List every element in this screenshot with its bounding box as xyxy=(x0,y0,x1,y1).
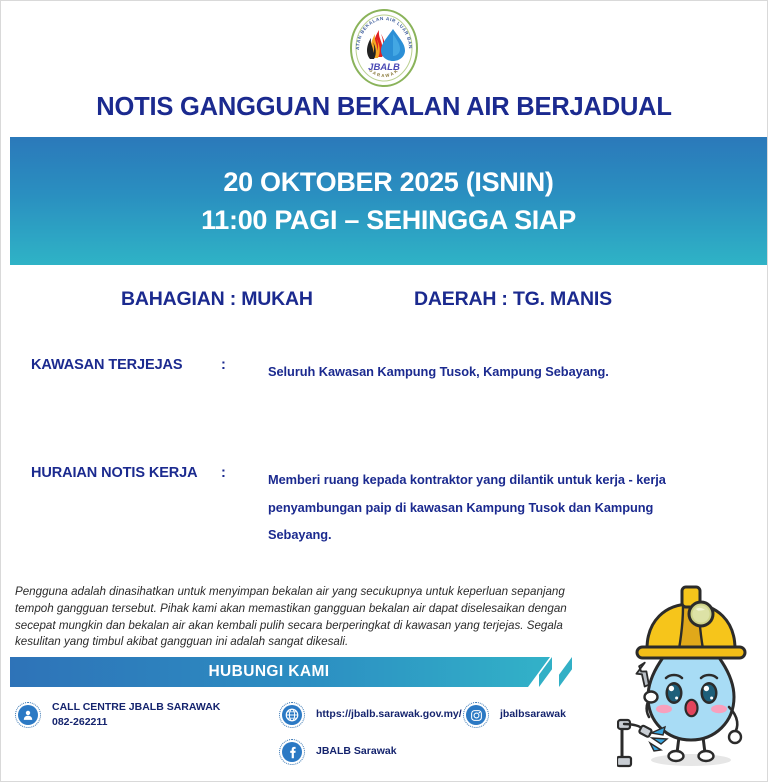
water-droplet-mascot-icon xyxy=(617,577,763,777)
svg-text:JBALB: JBALB xyxy=(368,62,400,73)
call-centre-phone: 082-262211 xyxy=(52,715,220,730)
facebook-icon xyxy=(279,739,305,765)
division-row: BAHAGIAN : MUKAH DAERAH : TG. MANIS xyxy=(1,288,767,318)
jbalb-logo-icon: JABATAN BEKALAN AIR LUAR BANDAR SARAWAK … xyxy=(348,8,420,88)
contact-call-centre[interactable]: CALL CENTRE JBALB SARAWAK 082-262211 xyxy=(15,700,220,730)
page-header: JABATAN BEKALAN AIR LUAR BANDAR SARAWAK … xyxy=(1,1,767,134)
decorative-stripe-2 xyxy=(559,657,572,687)
bahagian-label: BAHAGIAN : MUKAH xyxy=(121,288,313,311)
call-centre-text: CALL CENTRE JBALB SARAWAK 082-262211 xyxy=(52,700,220,730)
info-value: Seluruh Kawasan Kampung Tusok, Kampung S… xyxy=(268,358,718,386)
website-url[interactable]: https://jbalb.sarawak.gov.my/ xyxy=(316,707,462,722)
page-title: NOTIS GANGGUAN BEKALAN AIR BERJADUAL xyxy=(1,93,767,122)
contact-website[interactable]: https://jbalb.sarawak.gov.my/ xyxy=(279,702,462,728)
contact-facebook[interactable]: JBALB Sarawak xyxy=(279,739,397,765)
contact-instagram[interactable]: jbalbsarawak xyxy=(463,702,566,728)
disclaimer-text: Pengguna adalah dinasihatkan untuk menyi… xyxy=(15,584,567,651)
instagram-icon xyxy=(463,702,489,728)
globe-icon xyxy=(279,702,305,728)
contact-us-title: HUBUNGI KAMI xyxy=(10,657,528,687)
info-value: Memberi ruang kepada kontraktor yang dil… xyxy=(268,466,718,549)
banner-time-line: 11:00 PAGI – SEHINGGA SIAP xyxy=(201,201,576,239)
person-icon xyxy=(15,702,41,728)
info-colon: : xyxy=(221,465,226,481)
water-disruption-notice-page: JABATAN BEKALAN AIR LUAR BANDAR SARAWAK … xyxy=(0,0,768,782)
date-banner: 20 OKTOBER 2025 (ISNIN) 11:00 PAGI – SEH… xyxy=(10,137,767,265)
info-label: HURAIAN NOTIS KERJA xyxy=(31,465,197,481)
call-centre-name: CALL CENTRE JBALB SARAWAK xyxy=(52,700,220,715)
info-label: KAWASAN TERJEJAS xyxy=(31,357,183,373)
daerah-label: DAERAH : TG. MANIS xyxy=(414,288,612,311)
info-colon: : xyxy=(221,357,226,373)
instagram-handle[interactable]: jbalbsarawak xyxy=(500,707,566,722)
facebook-handle[interactable]: JBALB Sarawak xyxy=(316,744,397,759)
logo-wrap: JABATAN BEKALAN AIR LUAR BANDAR SARAWAK … xyxy=(341,8,427,88)
contact-us-bar: HUBUNGI KAMI xyxy=(10,657,590,687)
banner-date-line: 20 OKTOBER 2025 (ISNIN) xyxy=(223,163,553,201)
